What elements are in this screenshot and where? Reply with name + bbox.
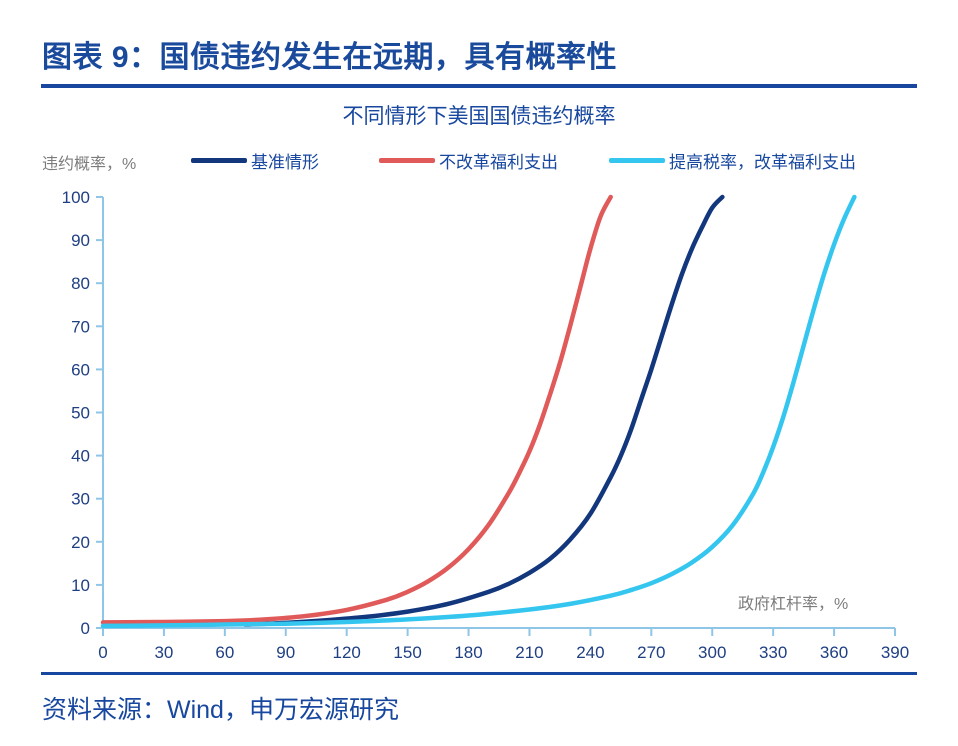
source-note: 资料来源：Wind，申万宏源研究 xyxy=(42,690,399,726)
series-line-0 xyxy=(245,197,722,625)
x-axis-tick-label: 30 xyxy=(154,643,173,660)
title-divider xyxy=(41,84,917,88)
series-line-1 xyxy=(103,197,611,622)
plot-area: 0102030405060708090100030609012015018021… xyxy=(0,180,958,660)
legend-swatch-no-reform xyxy=(379,158,435,163)
x-axis-tick-label: 390 xyxy=(881,643,909,660)
x-axis-tick-label: 300 xyxy=(698,643,726,660)
legend-item-no-reform: 不改革福利支出 xyxy=(379,148,558,173)
x-axis-tick-label: 330 xyxy=(759,643,787,660)
legend-item-baseline: 基准情形 xyxy=(191,148,319,173)
series-layer xyxy=(103,197,854,626)
legend-item-tax-reform: 提高税率，改革福利支出 xyxy=(609,148,856,173)
x-axis-tick-label: 180 xyxy=(454,643,482,660)
legend-label-no-reform: 不改革福利支出 xyxy=(439,148,558,173)
axes-layer xyxy=(96,197,895,636)
legend-label-tax-reform: 提高税率，改革福利支出 xyxy=(669,148,856,173)
y-axis-tick-label: 80 xyxy=(71,274,90,293)
legend-swatch-baseline xyxy=(191,158,247,163)
x-axis-caption: 政府杠杆率，% xyxy=(738,590,848,614)
x-axis-tick-label: 0 xyxy=(98,643,107,660)
y-axis-tick-label: 40 xyxy=(71,447,90,466)
chart-legend: 违约概率，% 基准情形 不改革福利支出 提高税率，改革福利支出 xyxy=(42,146,922,176)
x-axis-tick-label: 270 xyxy=(637,643,665,660)
line-chart-svg: 0102030405060708090100030609012015018021… xyxy=(0,180,958,660)
chart-figure: 图表 9：国债违约发生在远期，具有概率性 不同情形下美国国债违约概率 违约概率，… xyxy=(0,0,958,746)
y-axis-caption: 违约概率，% xyxy=(42,150,136,174)
footer-divider xyxy=(41,672,917,675)
y-axis-tick-label: 100 xyxy=(62,188,90,207)
x-axis-tick-label: 150 xyxy=(393,643,421,660)
y-axis-tick-label: 30 xyxy=(71,490,90,509)
x-axis-tick-label: 240 xyxy=(576,643,604,660)
series-line-2 xyxy=(103,197,854,626)
y-axis-tick-label: 50 xyxy=(71,404,90,423)
y-axis-tick-label: 90 xyxy=(71,231,90,250)
y-axis-tick-label: 70 xyxy=(71,317,90,336)
x-axis-tick-label: 60 xyxy=(215,643,234,660)
chart-subtitle: 不同情形下美国国债违约概率 xyxy=(0,100,958,130)
x-axis-tick-label: 90 xyxy=(276,643,295,660)
y-axis-tick-label: 0 xyxy=(81,619,90,638)
y-axis-tick-label: 20 xyxy=(71,533,90,552)
x-axis-tick-label: 360 xyxy=(820,643,848,660)
x-axis-tick-label: 210 xyxy=(515,643,543,660)
y-axis-tick-label: 10 xyxy=(71,576,90,595)
page-title: 图表 9：国债违约发生在远期，具有概率性 xyxy=(42,32,617,76)
x-axis-tick-label: 120 xyxy=(333,643,361,660)
legend-swatch-tax-reform xyxy=(609,158,665,163)
legend-label-baseline: 基准情形 xyxy=(251,148,319,173)
y-axis-tick-label: 60 xyxy=(71,360,90,379)
